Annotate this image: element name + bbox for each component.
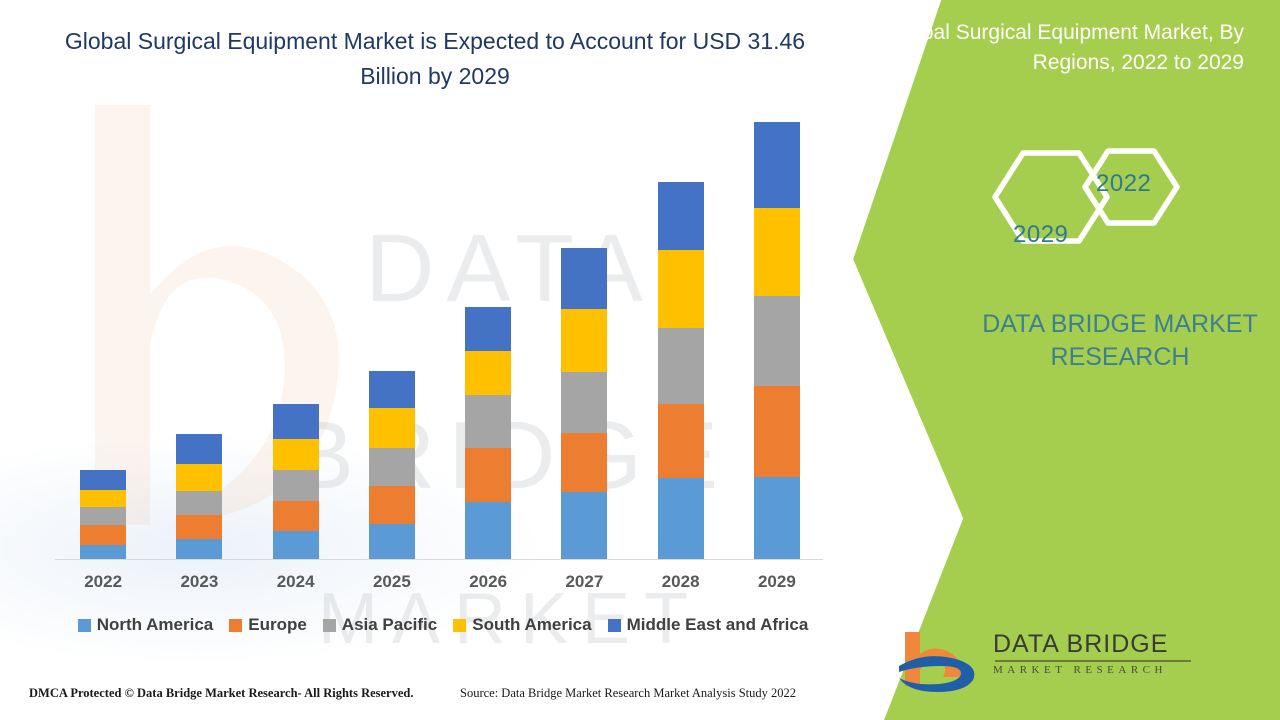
x-axis-label: 2022 (80, 572, 126, 592)
bar-column (273, 120, 319, 559)
bar-column (658, 120, 704, 559)
bar-column (465, 120, 511, 559)
hexagon-badges: 2022 2029 (975, 125, 1205, 290)
bar-segment (176, 434, 222, 463)
footer-source: Source: Data Bridge Market Research Mark… (460, 686, 796, 701)
bar-segment (369, 448, 415, 486)
bar-segment (658, 478, 704, 559)
bar-segment (754, 296, 800, 385)
logo-divider (995, 660, 1191, 662)
logo-text: DATA BRIDGE MARKET RESEARCH (993, 632, 1223, 676)
stacked-bar-chart: 20222023202420252026202720282029 (55, 120, 825, 560)
footer: DMCA Protected © Data Bridge Market Rese… (0, 686, 860, 716)
legend-swatch (608, 619, 621, 632)
bar-segment (754, 386, 800, 477)
bar-segment (273, 404, 319, 439)
bar-column (80, 120, 126, 559)
logo-subtitle: MARKET RESEARCH (993, 665, 1223, 676)
bar-segment (273, 531, 319, 559)
legend-swatch (78, 619, 91, 632)
x-axis-label: 2029 (754, 572, 800, 592)
infographic-root: DATA BRIDGE MARKET RESEARCH Global Surgi… (0, 0, 1280, 720)
x-axis-label: 2025 (369, 572, 415, 592)
bar-segment (465, 502, 511, 559)
bar-segment (754, 122, 800, 208)
logo-mark-icon (893, 628, 988, 694)
bar-segment (176, 464, 222, 491)
legend-label: South America (472, 615, 591, 635)
bar-segment (465, 395, 511, 448)
bar-segment (658, 182, 704, 250)
x-axis-line (55, 559, 823, 560)
bar-segment (465, 307, 511, 351)
x-axis-label: 2027 (561, 572, 607, 592)
bar-segment (754, 477, 800, 559)
legend-item[interactable]: North America (78, 615, 214, 635)
bar-segment (273, 501, 319, 530)
footer-copyright: DMCA Protected © Data Bridge Market Rese… (29, 686, 414, 701)
legend-swatch (229, 619, 242, 632)
x-axis-label: 2026 (465, 572, 511, 592)
hexagon-label-2022: 2022 (1096, 170, 1151, 198)
legend-item[interactable]: Europe (229, 615, 307, 635)
bar-column (561, 120, 607, 559)
bar-column (754, 120, 800, 559)
legend-swatch (453, 619, 466, 632)
bar-segment (658, 404, 704, 478)
bar-segment (80, 545, 126, 559)
bar-segment (369, 486, 415, 524)
bar-segment (273, 439, 319, 470)
x-axis-label: 2024 (273, 572, 319, 592)
bar-segment (561, 309, 607, 371)
legend-item[interactable]: Middle East and Africa (608, 615, 809, 635)
company-logo: DATA BRIDGE MARKET RESEARCH (893, 628, 1223, 696)
legend-label: Europe (248, 615, 307, 635)
chart-plot-area (55, 120, 825, 559)
legend-label: Middle East and Africa (627, 615, 809, 635)
bar-segment (465, 448, 511, 502)
bar-segment (465, 351, 511, 396)
bar-segment (80, 470, 126, 490)
bar-segment (561, 433, 607, 492)
hexagon-label-2029: 2029 (1013, 221, 1068, 249)
legend-item[interactable]: South America (453, 615, 591, 635)
bar-segment (80, 490, 126, 507)
bar-segment (561, 248, 607, 309)
chart-legend: North AmericaEuropeAsia PacificSouth Ame… (48, 615, 838, 635)
legend-swatch (323, 619, 336, 632)
x-axis-label: 2028 (658, 572, 704, 592)
bar-segment (369, 408, 415, 448)
bar-segment (369, 524, 415, 559)
bar-segment (273, 470, 319, 502)
brand-name: DATA BRIDGE MARKET RESEARCH (960, 308, 1280, 373)
bar-segment (658, 328, 704, 403)
bar-segment (80, 507, 126, 526)
x-axis-label: 2023 (176, 572, 222, 592)
legend-label: Asia Pacific (342, 615, 437, 635)
bar-segment (658, 250, 704, 328)
bar-segment (176, 491, 222, 516)
legend-item[interactable]: Asia Pacific (323, 615, 437, 635)
x-axis-labels: 20222023202420252026202720282029 (55, 572, 825, 592)
bar-segment (754, 208, 800, 296)
legend-label: North America (97, 615, 214, 635)
bar-column (176, 120, 222, 559)
bar-segment (176, 539, 222, 559)
bar-segment (561, 492, 607, 559)
panel-title: Global Surgical Equipment Market, By Reg… (884, 18, 1244, 78)
logo-title: DATA BRIDGE (993, 632, 1223, 657)
bar-segment (561, 372, 607, 433)
page-title: Global Surgical Equipment Market is Expe… (60, 24, 810, 93)
bar-segment (176, 515, 222, 539)
bar-segment (80, 525, 126, 545)
bar-column (369, 120, 415, 559)
bar-segment (369, 371, 415, 409)
